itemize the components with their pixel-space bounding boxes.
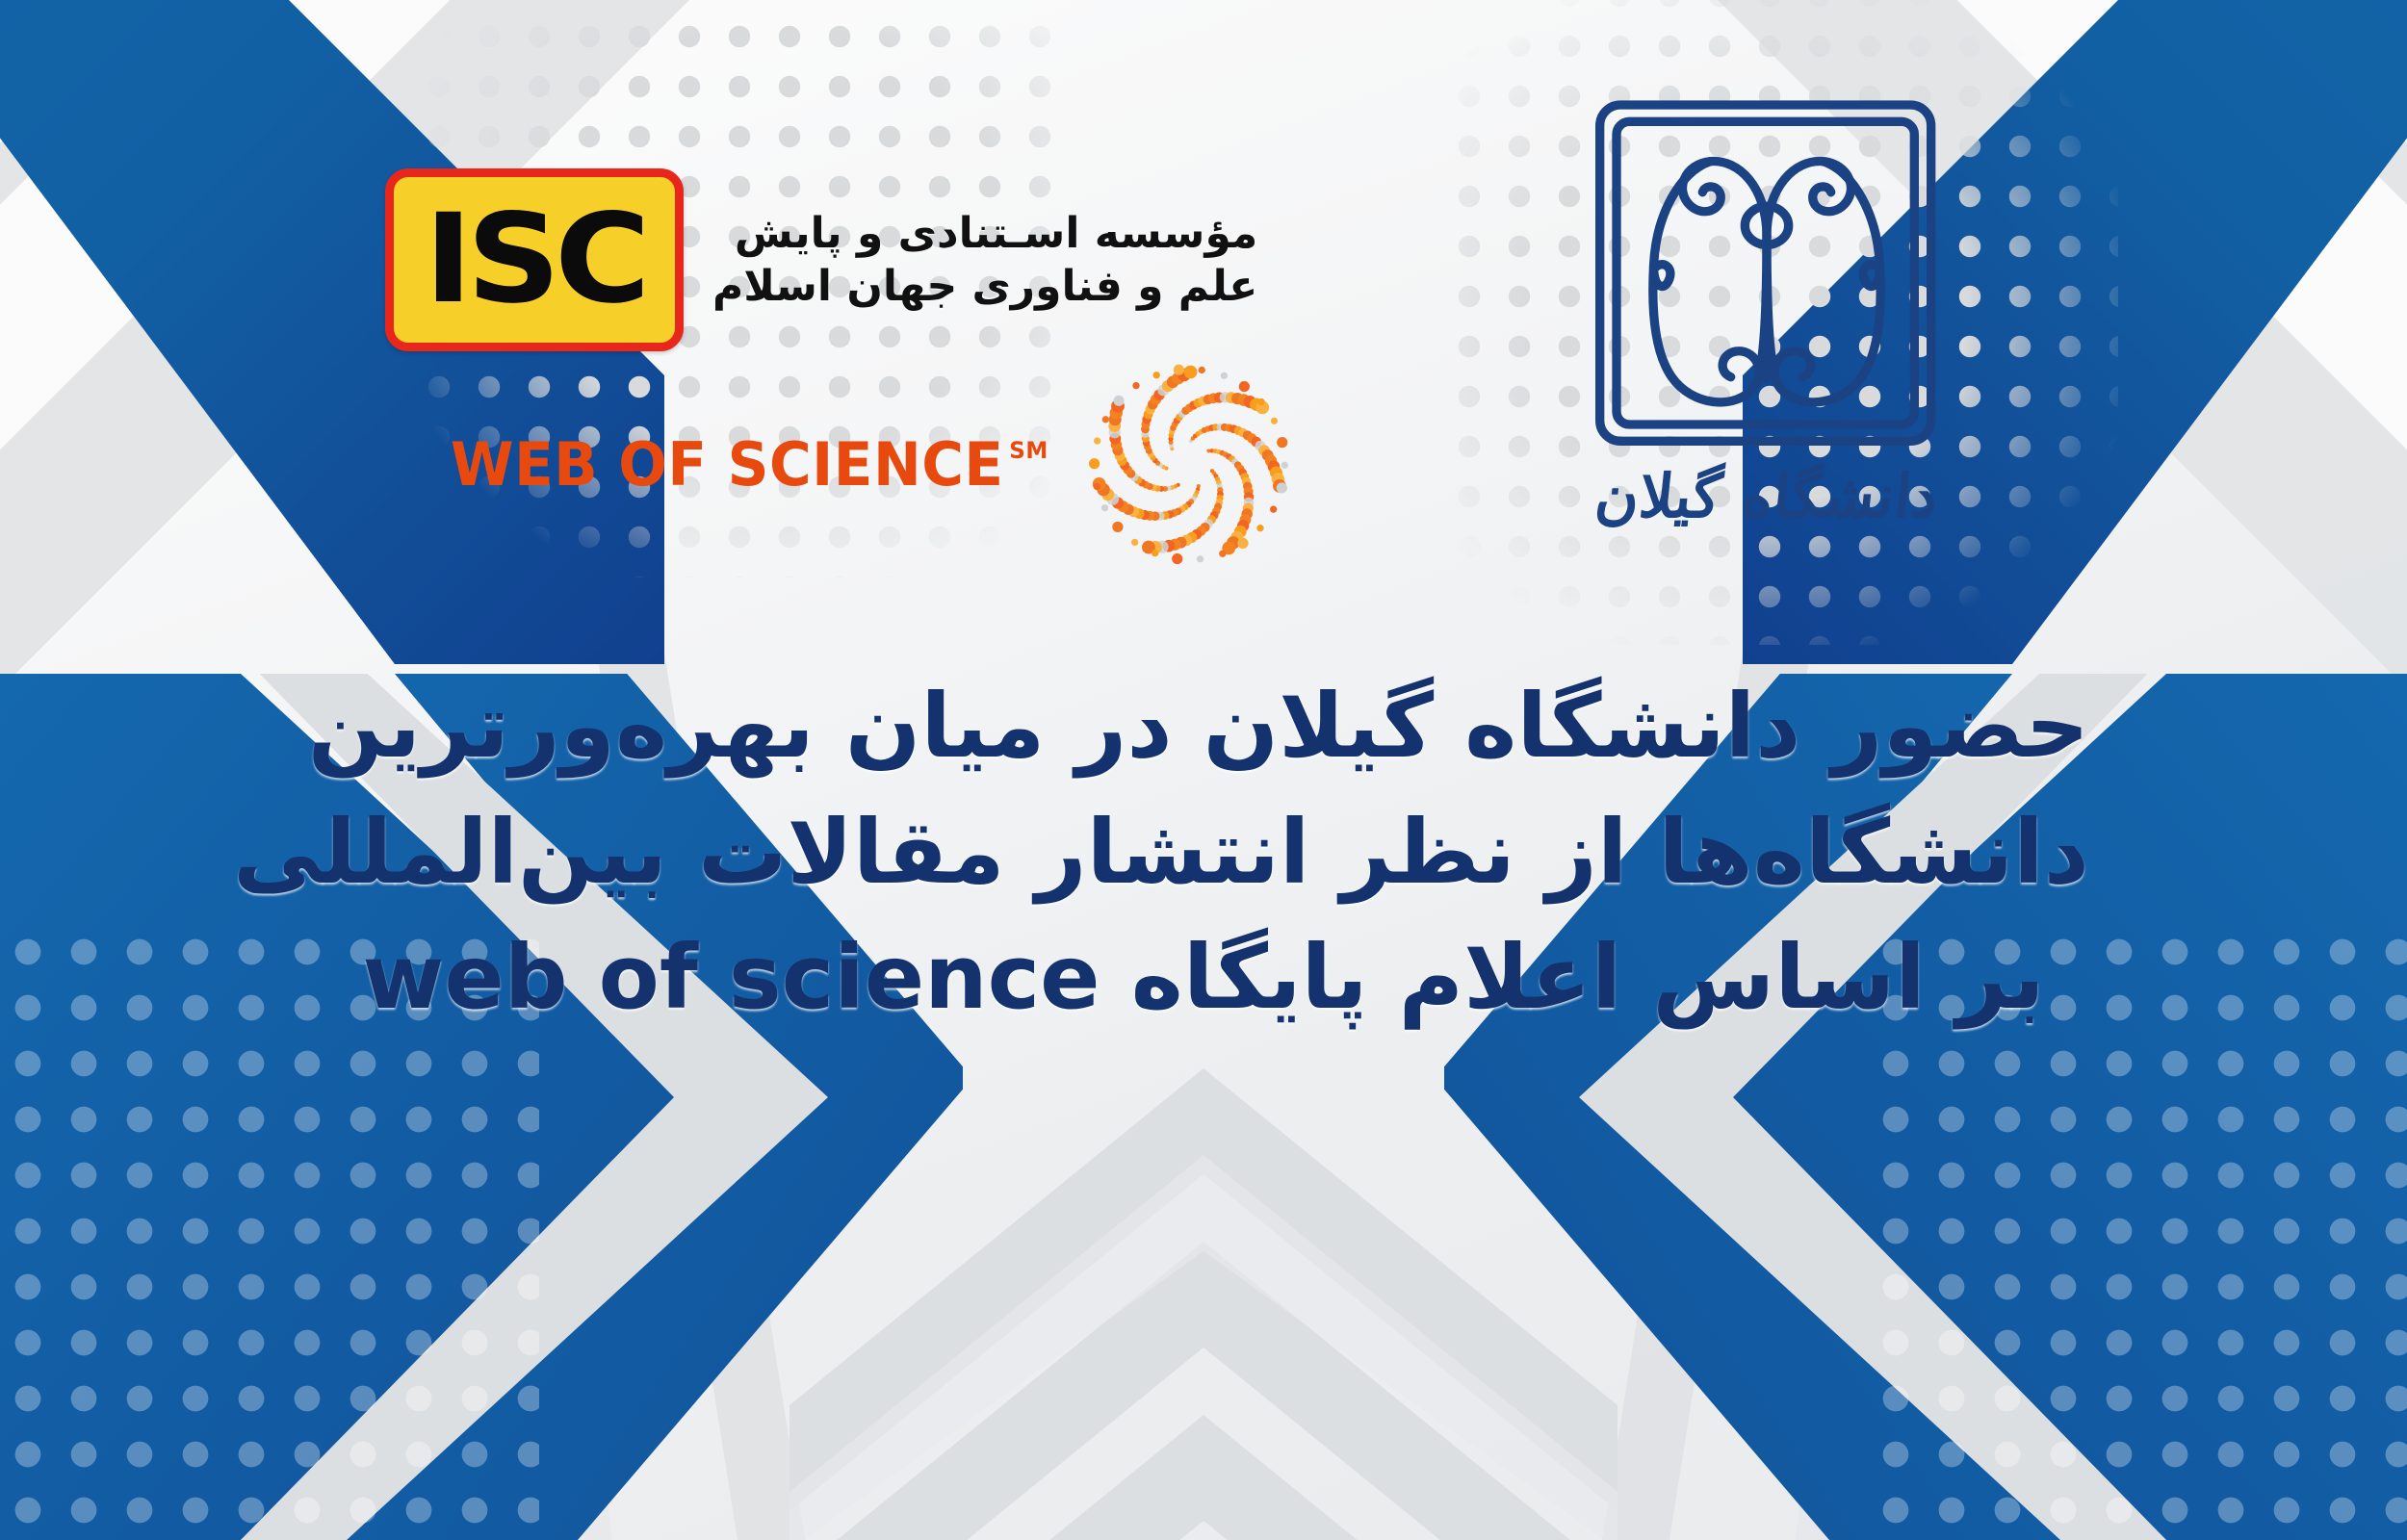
web-of-science-wordmark-text: WEB OF SCIENCE [451, 435, 1004, 495]
guilan-emblem-icon [1574, 82, 1959, 467]
web-of-science-dots-icon [1086, 361, 1293, 568]
university-name-caption: دانشگاه گیلان [1537, 461, 1997, 531]
poster-canvas: مؤسسه اسـتنادی و پایش علم و فناوری جهان … [0, 0, 2407, 1540]
isc-logo-text: مؤسسه اسـتنادی و پایش علم و فناوری جهان … [712, 207, 1257, 313]
service-mark-icon: SM [1009, 439, 1048, 462]
headline-block: حضور دانشگاه گیلان در میان بهره‌ورترین د… [0, 664, 2407, 1041]
university-of-guilan-logo: دانشگاه گیلان [1540, 82, 1993, 531]
headline-line-2: دانشگاه‌ها از نظر انتشار مقالات بین‌المل… [318, 790, 2089, 916]
logo-bar: مؤسسه اسـتنادی و پایش علم و فناوری جهان … [0, 0, 2407, 616]
isc-badge-label: ISC [425, 198, 645, 321]
web-of-science-wordmark: WEB OF SCIENCE SM [451, 435, 1048, 495]
headline-line-3: بر اساس اعلام پایگاه web of science [318, 915, 2089, 1041]
isc-logo-line-2: علم و فناوری جهان اسلام [712, 260, 1257, 313]
isc-logo: مؤسسه اسـتنادی و پایش علم و فناوری جهان … [385, 168, 1257, 351]
headline-line-1: حضور دانشگاه گیلان در میان بهره‌ورترین [318, 664, 2089, 790]
isc-badge: ISC [385, 168, 684, 351]
isc-logo-line-1: مؤسسه اسـتنادی و پایش [712, 207, 1257, 260]
web-of-science-logo: WEB OF SCIENCE SM [438, 361, 1293, 568]
